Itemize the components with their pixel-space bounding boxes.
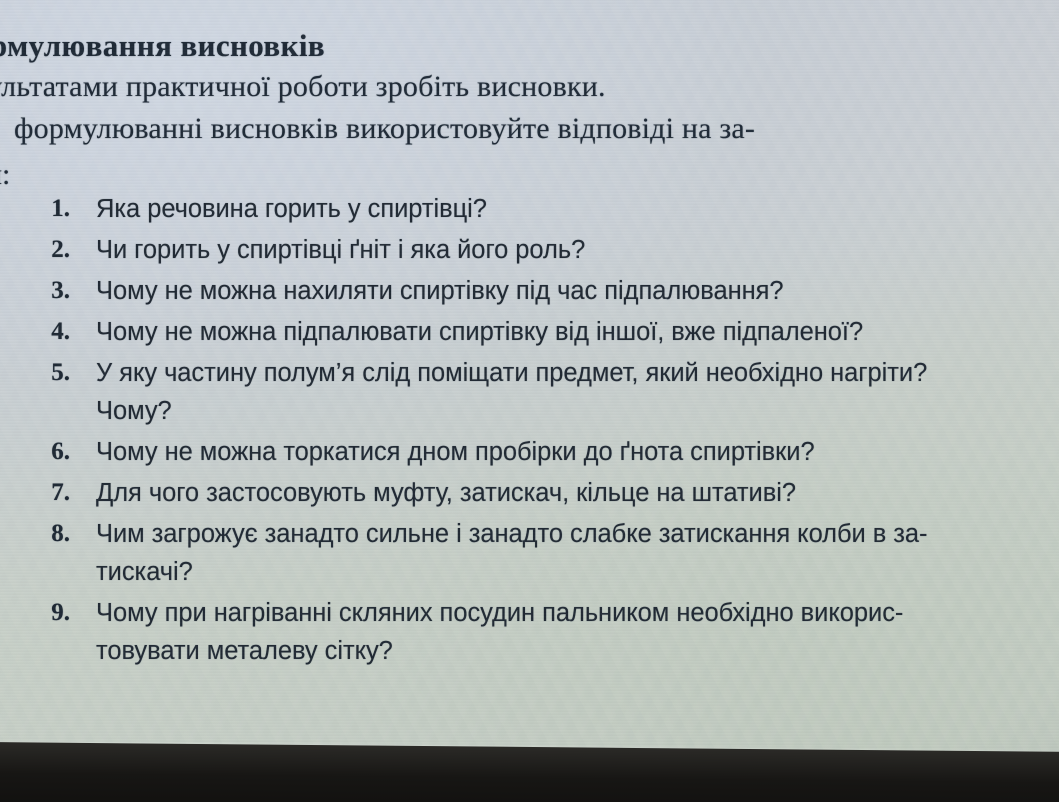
- list-item-number: 5.: [0, 354, 70, 392]
- list-item-line: Для чого застосовують муфту, затискач, к…: [96, 474, 1055, 512]
- list-item-text: Чому не можна торкатися дном пробірки до…: [70, 433, 1059, 471]
- list-item-line: Чому?: [96, 392, 1055, 430]
- list-item-line: Чому не можна торкатися дном пробірки до…: [96, 433, 1055, 471]
- intro-line-2: формулюванні висновків використовуйте ві…: [14, 112, 755, 146]
- list-item-number: 7.: [0, 474, 70, 512]
- list-item-text: Чи горить у спиртівці ґніт і яка його ро…: [70, 231, 1059, 269]
- list-item: 2. Чи горить у спиртівці ґніт і яка його…: [0, 231, 1059, 269]
- list-item-line: Чому не можна нахиляти спиртівку під час…: [96, 272, 1055, 310]
- list-item: 9. Чому при нагріванні скляних посудин п…: [0, 594, 1059, 670]
- list-item-text: Для чого застосовують муфту, затискач, к…: [70, 474, 1059, 512]
- list-item: 7. Для чого застосовують муфту, затискач…: [0, 474, 1059, 512]
- list-item-line: Чим загрожує занадто сильне і занадто сл…: [96, 515, 1055, 553]
- questions-list: 1. Яка речовина горить у спиртівці? 2. Ч…: [0, 190, 1059, 673]
- intro-line-1: езультатами практичної роботи зробіть ви…: [0, 70, 606, 104]
- list-item: 3. Чому не можна нахиляти спиртівку під …: [0, 272, 1059, 310]
- list-item: 5. У яку частину полум’я слід поміщати п…: [0, 354, 1059, 430]
- document-page: ормулювання висновків езультатами практи…: [0, 0, 1059, 802]
- screen-photo: ормулювання висновків езультатами практи…: [0, 0, 1059, 802]
- list-item-text: Чим загрожує занадто сильне і занадто сл…: [70, 515, 1059, 591]
- list-item-line: товувати металеву сітку?: [96, 632, 1055, 670]
- list-item-number: 3.: [0, 272, 70, 310]
- list-item-text: Чому не можна підпалювати спиртівку від …: [70, 313, 1059, 351]
- list-item: 1. Яка речовина горить у спиртівці?: [0, 190, 1059, 228]
- list-item-text: Чому не можна нахиляти спиртівку під час…: [70, 272, 1059, 310]
- list-item-line: Чому при нагріванні скляних посудин паль…: [96, 594, 1055, 632]
- list-item-line: Чому не можна підпалювати спиртівку від …: [96, 313, 1055, 351]
- list-item-line: Яка речовина горить у спиртівці?: [96, 190, 1055, 228]
- list-item-number: 1.: [0, 190, 70, 228]
- intro-line-3: н:: [0, 158, 10, 192]
- list-item: 8. Чим загрожує занадто сильне і занадто…: [0, 515, 1059, 591]
- list-item-line: У яку частину полум’я слід поміщати пред…: [96, 354, 1055, 392]
- list-item-text: Чому при нагріванні скляних посудин паль…: [70, 594, 1059, 670]
- list-item-number: 4.: [0, 313, 70, 351]
- page-title: ормулювання висновків: [0, 28, 325, 64]
- screen-bezel-edge: [0, 742, 1059, 802]
- list-item-line: Чи горить у спиртівці ґніт і яка його ро…: [96, 231, 1055, 269]
- list-item: 6. Чому не можна торкатися дном пробірки…: [0, 433, 1059, 471]
- list-item-number: 9.: [0, 594, 70, 632]
- list-item-text: У яку частину полум’я слід поміщати пред…: [70, 354, 1059, 430]
- list-item-number: 6.: [0, 433, 70, 471]
- list-item-number: 8.: [0, 515, 70, 553]
- list-item-text: Яка речовина горить у спиртівці?: [70, 190, 1059, 228]
- list-item-number: 2.: [0, 231, 70, 269]
- list-item: 4. Чому не можна підпалювати спиртівку в…: [0, 313, 1059, 351]
- list-item-line: тискачі?: [96, 553, 1055, 591]
